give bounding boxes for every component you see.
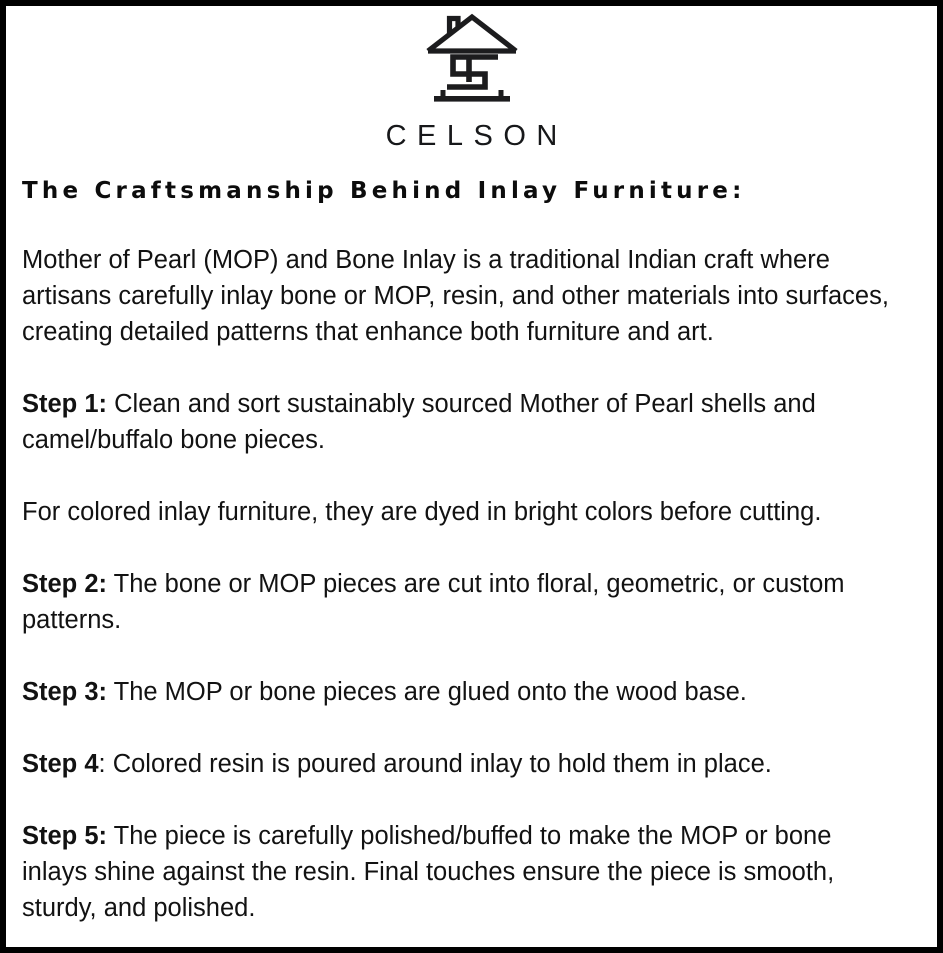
paragraph-step-1: Step 1: Clean and sort sustainably sourc…: [22, 386, 893, 458]
paragraph-text: The bone or MOP pieces are cut into flor…: [22, 570, 845, 634]
page-title: The Craftsmanship Behind Inlay Furniture…: [22, 178, 927, 206]
house-monogram-icon: [424, 10, 520, 110]
paragraph-step-2: Step 2: The bone or MOP pieces are cut i…: [22, 566, 893, 638]
paragraph-lead: Step 2:: [22, 570, 107, 598]
paragraph-step-4: Step 4: Colored resin is poured around i…: [22, 746, 893, 782]
paragraph-intro: Mother of Pearl (MOP) and Bone Inlay is …: [22, 242, 893, 350]
brand-wordmark: CELSON: [16, 122, 927, 151]
paragraph-lead: Step 3:: [22, 678, 107, 706]
poster-card: CELSON The Craftsmanship Behind Inlay Fu…: [0, 0, 943, 953]
paragraph-step-3: Step 3: The MOP or bone pieces are glued…: [22, 674, 893, 710]
brand-block: CELSON: [16, 6, 927, 151]
paragraph-text: The piece is carefully polished/buffed t…: [22, 822, 834, 922]
paragraph-dye-note: For colored inlay furniture, they are dy…: [22, 494, 893, 530]
paragraph-text: The MOP or bone pieces are glued onto th…: [107, 678, 747, 706]
paragraph-text: For colored inlay furniture, they are dy…: [22, 498, 821, 526]
poster-content: CELSON The Craftsmanship Behind Inlay Fu…: [6, 6, 937, 947]
paragraph-text: : Colored resin is poured around inlay t…: [99, 750, 772, 778]
paragraph-step-5: Step 5: The piece is carefully polished/…: [22, 818, 893, 926]
paragraph-text: Mother of Pearl (MOP) and Bone Inlay is …: [22, 246, 889, 346]
paragraph-lead: Step 5:: [22, 822, 107, 850]
paragraph-lead: Step 1:: [22, 390, 107, 418]
paragraph-text: Clean and sort sustainably sourced Mothe…: [22, 390, 816, 454]
body-copy: Mother of Pearl (MOP) and Bone Inlay is …: [22, 242, 927, 926]
paragraph-lead: Step 4: [22, 750, 99, 778]
